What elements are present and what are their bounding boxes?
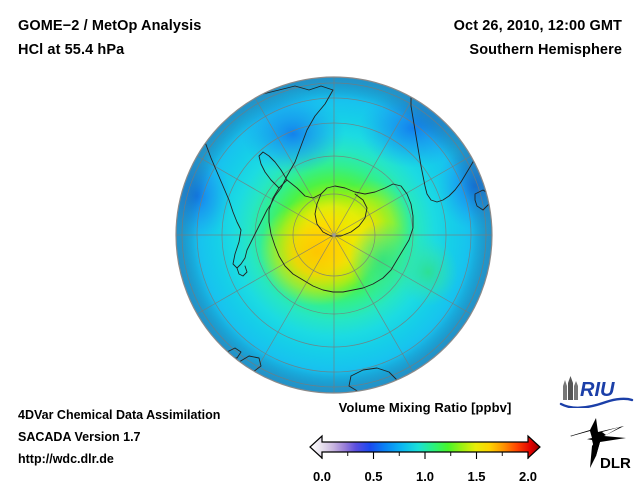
- figure-canvas: GOME−2 / MetOp Analysis HCl at 55.4 hPa …: [0, 0, 640, 480]
- south-pole-marker: [332, 233, 336, 237]
- credits-block: 4DVar Chemical Data Assimilation SACADA …: [18, 404, 220, 470]
- colorbar-tick-label: 0.5: [364, 469, 382, 484]
- timestamp-label: Oct 26, 2010, 12:00 GMT: [454, 14, 622, 38]
- page-title: GOME−2 / MetOp Analysis: [18, 14, 201, 38]
- page-subtitle: HCl at 55.4 hPa: [18, 38, 201, 62]
- colorbar-ticks: [322, 452, 528, 459]
- riu-tower-icon: [563, 376, 578, 400]
- header-left: GOME−2 / MetOp Analysis HCl at 55.4 hPa: [18, 14, 201, 62]
- header-right: Oct 26, 2010, 12:00 GMT Southern Hemisph…: [454, 14, 622, 62]
- region-label: Southern Hemisphere: [454, 38, 622, 62]
- credit-url[interactable]: http://wdc.dlr.de: [18, 448, 220, 470]
- credit-method: 4DVar Chemical Data Assimilation: [18, 404, 220, 426]
- colorbar-tick-label: 1.0: [416, 469, 434, 484]
- colorbar-tick-label: 2.0: [519, 469, 537, 484]
- globe-svg: [175, 76, 493, 394]
- colorbar-tick-labels: 0.00.51.01.52.0: [300, 469, 550, 487]
- dlr-wordmark: DLR: [600, 455, 631, 472]
- polar-map: [175, 76, 493, 394]
- colorbar-title: Volume Mixing Ratio [ppbv]: [300, 400, 550, 415]
- dlr-logo: DLR: [566, 416, 634, 472]
- colorbar-block: Volume Mixing Ratio [ppbv] 0.00.51.01.52…: [300, 400, 550, 487]
- colorbar-tick-label: 0.0: [313, 469, 331, 484]
- riu-wordmark: RIU: [580, 379, 615, 401]
- colorbar-svg[interactable]: [300, 419, 550, 463]
- credit-version: SACADA Version 1.7: [18, 426, 220, 448]
- colorbar-tick-label: 1.5: [467, 469, 485, 484]
- colorbar-graphic: [300, 419, 550, 468]
- riu-logo: RIU: [558, 374, 634, 408]
